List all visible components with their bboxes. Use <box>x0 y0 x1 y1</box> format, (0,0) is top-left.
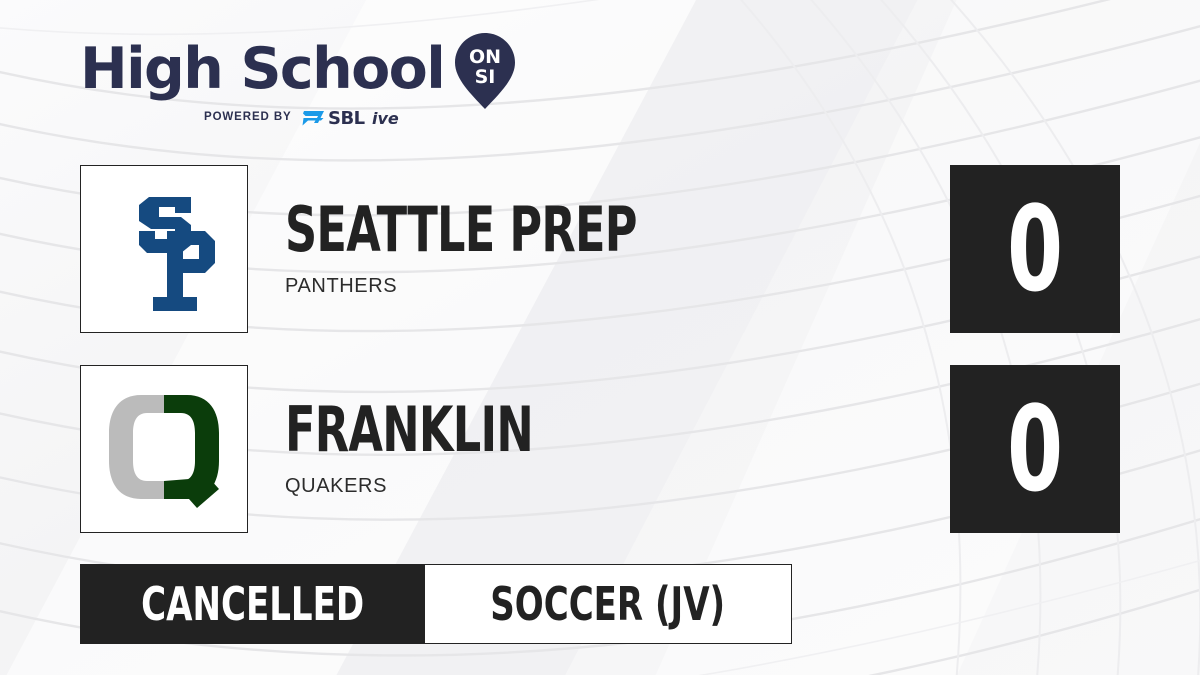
svg-text:ive: ive <box>372 109 399 127</box>
team-logo-box <box>80 365 248 533</box>
sport-label: SOCCER (JV) <box>491 581 726 627</box>
scoreboard-graphic: High School ON SI POWERED BY SBL ive <box>0 0 1200 675</box>
brand-main-row: High School ON SI <box>80 36 510 102</box>
brand-header: High School ON SI POWERED BY SBL ive <box>80 36 510 136</box>
team-row: SEATTLE PREP PANTHERS 0 <box>80 164 1120 334</box>
pin-text-si: SI <box>475 66 496 88</box>
sport-badge: SOCCER (JV) <box>425 564 791 644</box>
team-mascot: QUAKERS <box>285 474 950 498</box>
team-name: SEATTLE PREP <box>285 200 764 260</box>
status-bar: CANCELLED SOCCER (JV) <box>80 564 792 644</box>
sblive-logo: SBL ive <box>302 107 426 127</box>
team-score-box: 0 <box>950 165 1120 333</box>
team-name: FRANKLIN <box>285 400 764 460</box>
team-score-box: 0 <box>950 365 1120 533</box>
sblive-mark-icon: SBL ive <box>302 107 426 127</box>
team-score: 0 <box>1007 390 1063 508</box>
team-info: SEATTLE PREP PANTHERS <box>285 200 950 298</box>
team-logo-box <box>80 165 248 333</box>
pin-text-on: ON <box>469 46 501 68</box>
brand-wordmark: High School <box>80 38 444 100</box>
powered-by-row: POWERED BY SBL ive <box>80 107 510 127</box>
team-mascot: PANTHERS <box>285 274 950 298</box>
team-info: FRANKLIN QUAKERS <box>285 400 950 498</box>
game-status-label: CANCELLED <box>141 581 364 627</box>
team-row: FRANKLIN QUAKERS 0 <box>80 364 1120 534</box>
game-status-badge: CANCELLED <box>80 564 425 644</box>
svg-text:SBL: SBL <box>328 108 365 127</box>
team-score: 0 <box>1007 190 1063 308</box>
seattle-prep-sp-monogram-logo-icon <box>109 179 219 319</box>
franklin-quakers-q-logo-icon <box>101 389 227 509</box>
powered-by-label: POWERED BY <box>204 111 292 123</box>
on-si-pin-icon: ON SI <box>454 32 516 110</box>
